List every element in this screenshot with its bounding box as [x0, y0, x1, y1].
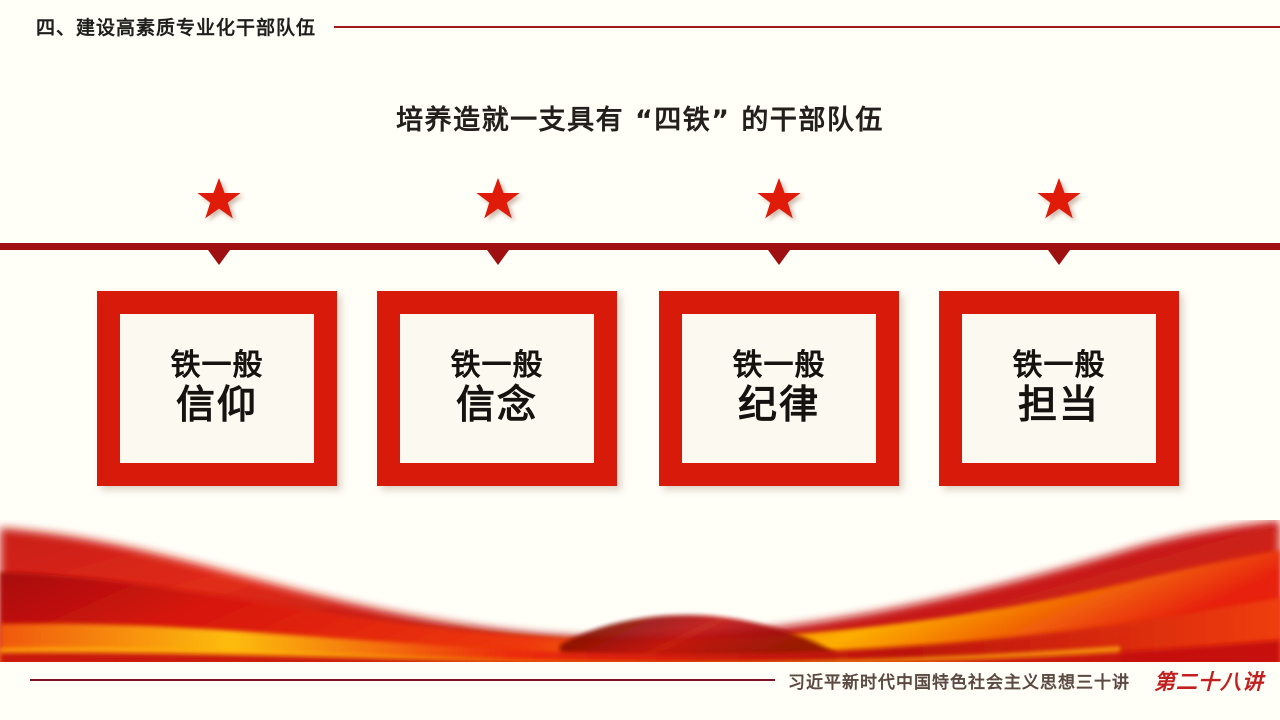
concept-boxes-row: 铁一般 信仰 铁一般 信念 铁一般 纪律 铁一般 担当 — [0, 291, 1280, 486]
five-pointed-star-icon — [1036, 176, 1082, 222]
slide-canvas: 四、建设高素质专业化干部队伍 培养造就一支具有 “四铁” 的干部队伍 — [0, 0, 1280, 720]
concept-box-inner: 铁一般 信念 — [400, 314, 594, 463]
footer-lecture-number: 第二十八讲 — [1154, 666, 1264, 696]
arrow-down-icon — [208, 250, 230, 265]
footer-course-title: 习近平新时代中国特色社会主义思想三十讲 — [788, 668, 1130, 693]
concept-box-discipline[interactable]: 铁一般 纪律 — [659, 291, 899, 486]
arrow-down-icon — [768, 250, 790, 265]
concept-box-responsibility[interactable]: 铁一般 担当 — [939, 291, 1179, 486]
concept-word: 担当 — [1018, 384, 1100, 428]
concept-prefix: 铁一般 — [451, 349, 544, 383]
concept-box-inner: 铁一般 担当 — [962, 314, 1156, 463]
five-pointed-star-icon — [756, 176, 802, 222]
concept-word: 纪律 — [738, 384, 820, 428]
arrow-down-icon — [1048, 250, 1070, 265]
slide-footer: 习近平新时代中国特色社会主义思想三十讲 第二十八讲 — [0, 662, 1280, 720]
markers-layer — [0, 0, 1280, 300]
concept-prefix: 铁一般 — [733, 349, 826, 383]
concept-prefix: 铁一般 — [171, 349, 264, 383]
concept-box-inner: 铁一般 信仰 — [120, 314, 314, 463]
arrow-down-icon — [487, 250, 509, 265]
footer-rule — [30, 679, 775, 681]
concept-box-conviction[interactable]: 铁一般 信念 — [377, 291, 617, 486]
concept-word: 信念 — [456, 384, 538, 428]
concept-box-inner: 铁一般 纪律 — [682, 314, 876, 463]
concept-prefix: 铁一般 — [1013, 349, 1106, 383]
concept-box-belief-faith[interactable]: 铁一般 信仰 — [97, 291, 337, 486]
five-pointed-star-icon — [196, 176, 242, 222]
five-pointed-star-icon — [475, 176, 521, 222]
red-ribbon-wave-decoration — [0, 520, 1280, 665]
concept-word: 信仰 — [176, 384, 258, 428]
